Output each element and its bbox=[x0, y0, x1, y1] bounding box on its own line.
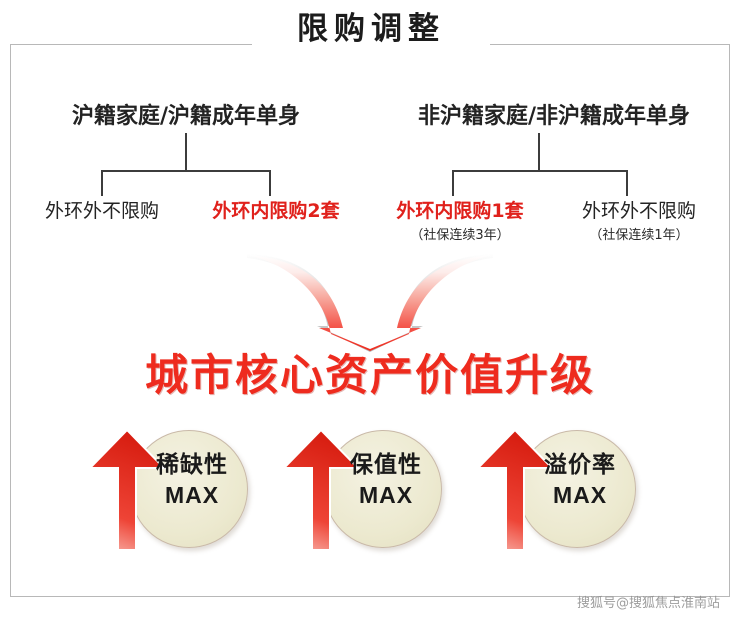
column-header-hu-resident: 沪籍家庭/沪籍成年单身 bbox=[0, 98, 372, 130]
source-watermark: 搜狐号@搜狐焦点淮南站 bbox=[520, 592, 720, 611]
headline-text: 城市核心资产价值升级 bbox=[0, 352, 740, 401]
connector-left-crossbar bbox=[101, 170, 271, 172]
badge-value-retention: 保值性 MAX bbox=[268, 424, 468, 554]
funnel-down-arrow-icon bbox=[245, 252, 495, 352]
rule-main-text: 外环外不限购 bbox=[548, 198, 730, 224]
column-header-non-hu-resident: 非沪籍家庭/非沪籍成年单身 bbox=[368, 98, 740, 130]
connector-right-stem bbox=[538, 133, 540, 170]
rule-main-text: 外环内限购1套 bbox=[372, 198, 548, 224]
badge-scarcity: 稀缺性 MAX bbox=[74, 424, 274, 554]
badge-label-cn: 稀缺性 bbox=[140, 450, 244, 480]
badge-premium-rate: 溢价率 MAX bbox=[462, 424, 662, 554]
infographic-poster: 限购调整 沪籍家庭/沪籍成年单身 非沪籍家庭/非沪籍成年单身 外环外不限购 外环… bbox=[0, 0, 740, 617]
connector-left-drop-first bbox=[101, 170, 103, 196]
badge-label-cn: 溢价率 bbox=[528, 450, 632, 480]
rule-main-text: 外环外不限购 bbox=[12, 198, 192, 224]
connector-right-drop-second bbox=[626, 170, 628, 196]
rule-item-inner-ring-two-units: 外环内限购2套 bbox=[188, 198, 364, 226]
rule-item-inner-ring-one-unit: 外环内限购1套 （社保连续3年） bbox=[372, 198, 548, 246]
page-title: 限购调整 bbox=[252, 14, 490, 45]
badge-label-en: MAX bbox=[528, 480, 632, 510]
badge-label: 溢价率 MAX bbox=[528, 450, 632, 510]
badge-label: 稀缺性 MAX bbox=[140, 450, 244, 510]
rule-item-outer-ring-unrestricted-hu: 外环外不限购 bbox=[12, 198, 192, 226]
frame-top-right-segment bbox=[490, 44, 730, 45]
rule-note-text: （社保连续3年） bbox=[372, 226, 548, 246]
connector-left-stem bbox=[185, 133, 187, 170]
badge-label-en: MAX bbox=[334, 480, 438, 510]
rule-item-outer-ring-unrestricted-non-hu: 外环外不限购 （社保连续1年） bbox=[548, 198, 730, 246]
badge-label-en: MAX bbox=[140, 480, 244, 510]
rule-note-text: （社保连续1年） bbox=[548, 226, 730, 246]
connector-right-crossbar bbox=[452, 170, 628, 172]
rule-main-text: 外环内限购2套 bbox=[188, 198, 364, 224]
badge-label: 保值性 MAX bbox=[334, 450, 438, 510]
connector-left-drop-second bbox=[269, 170, 271, 196]
connector-right-drop-first bbox=[452, 170, 454, 196]
frame-top-left-segment bbox=[10, 44, 252, 45]
badge-label-cn: 保值性 bbox=[334, 450, 438, 480]
